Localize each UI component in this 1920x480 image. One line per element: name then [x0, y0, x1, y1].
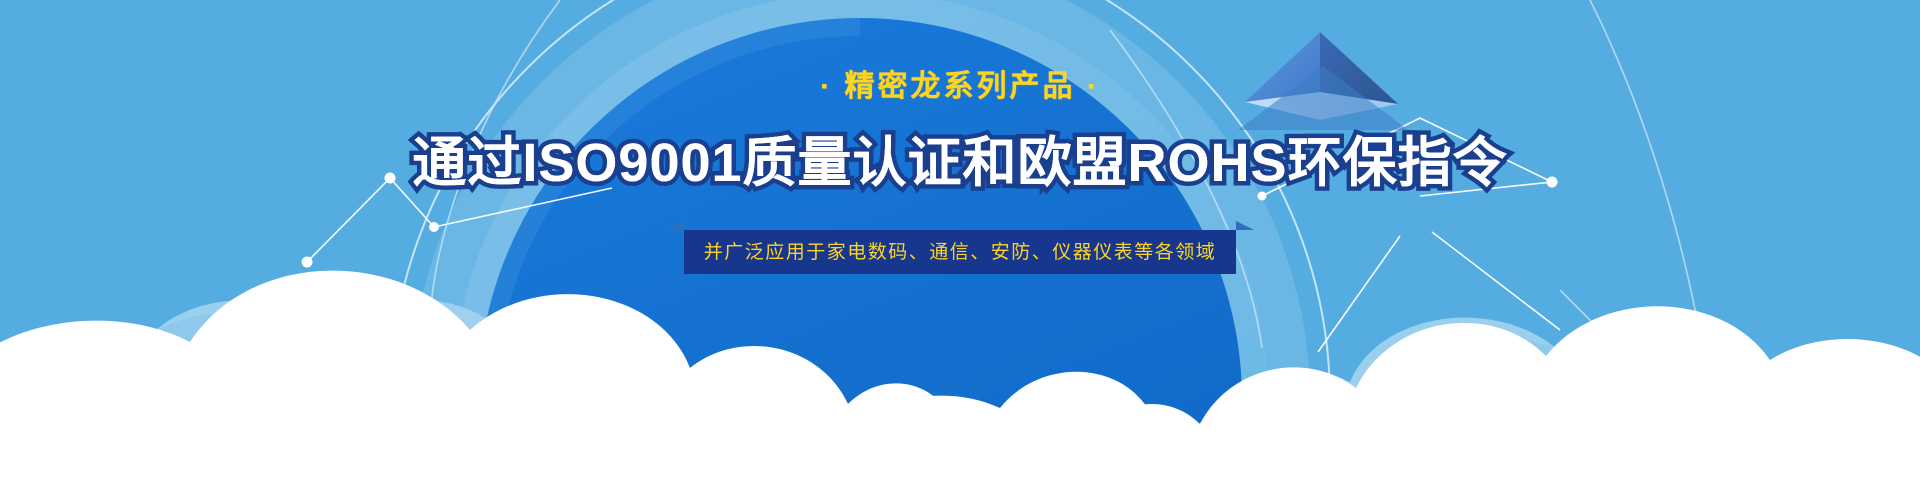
banner-background-art — [0, 0, 1920, 480]
promo-banner: · 精密龙系列产品 · 通过ISO9001质量认证和欧盟ROHS环保指令 通过I… — [0, 0, 1920, 480]
